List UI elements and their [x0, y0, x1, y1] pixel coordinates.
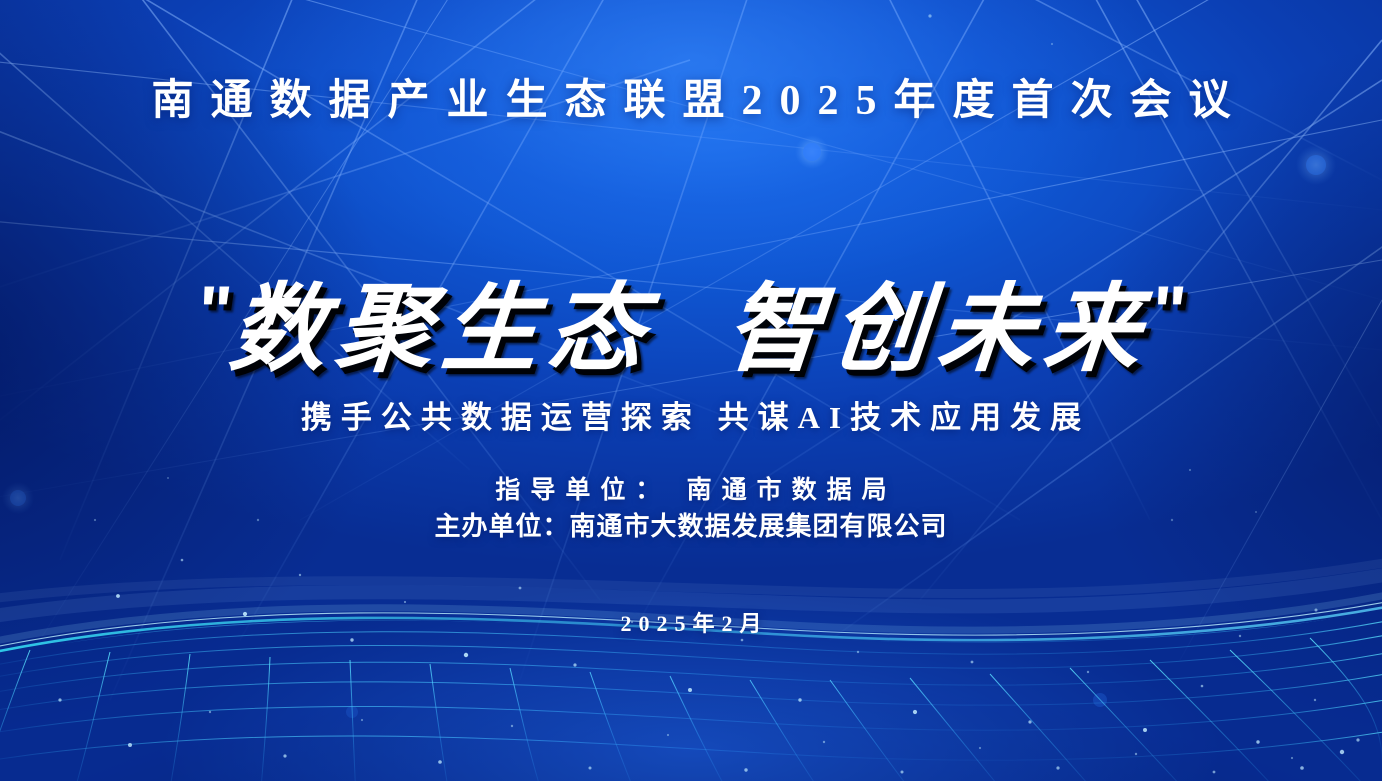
event-date: 2025年2月 — [0, 606, 1382, 638]
conference-poster: 南通数据产业生态联盟2025年度首次会议 "数聚生态智创未来" 携手公共数据运营… — [0, 0, 1382, 781]
host-unit-line: 主办单位：南通市大数据发展集团有限公司 — [0, 508, 1382, 546]
guidance-unit-line: 指导单位： 南通市数据局 — [0, 474, 1382, 508]
slogan-part-2: 智创未来 — [721, 272, 1155, 385]
organization-block: 指导单位： 南通市数据局 主办单位：南通市大数据发展集团有限公司 — [0, 474, 1382, 546]
page-title: 南通数据产业生态联盟2025年度首次会议 — [0, 66, 1382, 127]
slogan-part-1: 数聚生态 — [225, 272, 659, 385]
close-quote-mark: " — [1148, 272, 1189, 352]
slogan-subtitle: 携手公共数据运营探索 共谋AI技术应用发展 — [0, 392, 1382, 437]
main-slogan: "数聚生态智创未来" — [0, 256, 1382, 385]
